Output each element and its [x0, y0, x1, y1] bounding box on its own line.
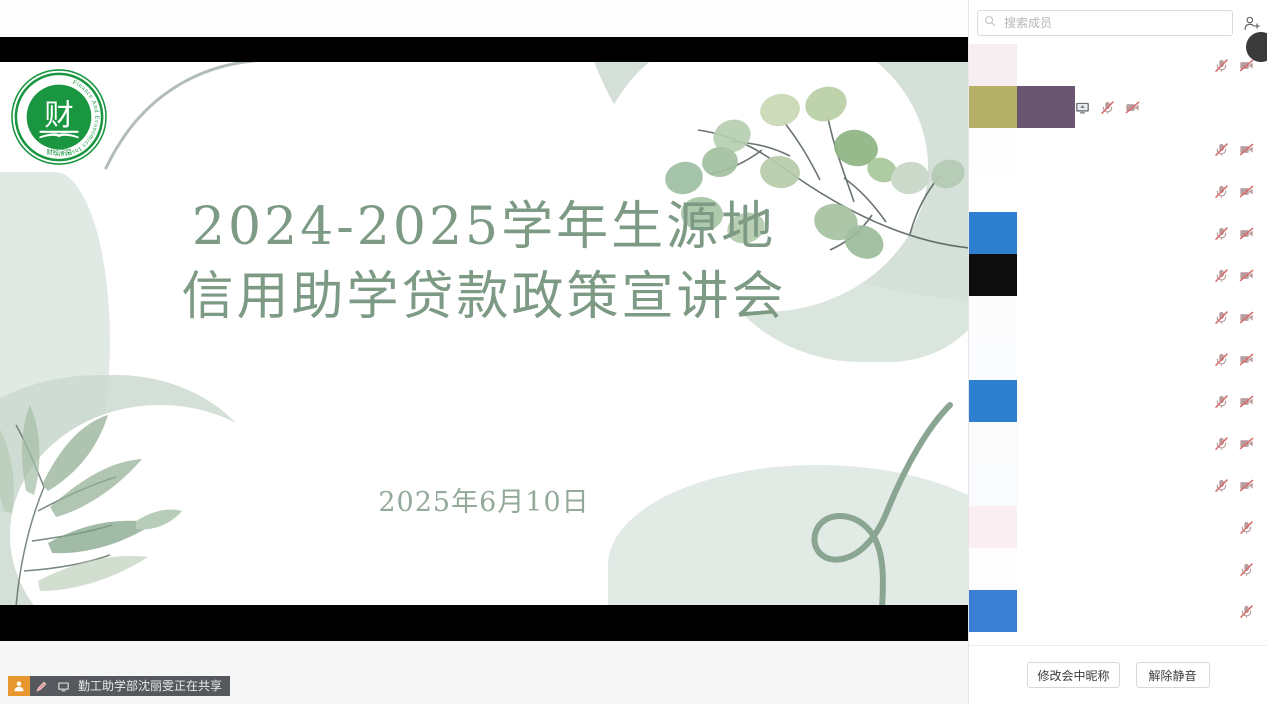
- avatar: [969, 422, 1017, 464]
- member-status-icons: [1214, 478, 1260, 493]
- members-panel-footer: 修改会中昵称 解除静音: [969, 645, 1267, 704]
- mic-muted-icon[interactable]: [1214, 142, 1229, 157]
- member-status-icons: [1239, 562, 1260, 577]
- member-search-row: [969, 0, 1267, 44]
- camera-muted-icon[interactable]: [1125, 100, 1140, 115]
- mic-muted-icon[interactable]: [1214, 268, 1229, 283]
- eucalyptus-branch-decoration: [658, 62, 968, 282]
- members-panel: 修改会中昵称 解除静音: [968, 0, 1267, 704]
- presenter-status-label: 勤工助学部沈丽雯正在共享: [74, 676, 230, 696]
- mic-muted-icon[interactable]: [1214, 226, 1229, 241]
- member-row[interactable]: [969, 506, 1267, 548]
- svg-text:财: 财: [44, 98, 73, 132]
- mic-muted-icon[interactable]: [1214, 394, 1229, 409]
- member-row[interactable]: [969, 128, 1267, 170]
- member-row[interactable]: [969, 338, 1267, 380]
- mic-muted-icon[interactable]: [1214, 352, 1229, 367]
- member-status-icons: [1214, 184, 1260, 199]
- avatar: [969, 44, 1017, 86]
- avatar: [969, 170, 1017, 212]
- member-row[interactable]: [969, 632, 1267, 645]
- finance-and-economics-institute-logo: Finance And Economics Institute 财 财经学院: [10, 68, 108, 166]
- member-row[interactable]: [969, 44, 1267, 86]
- annotate-icon[interactable]: [30, 676, 52, 696]
- viewer-top-gap: [0, 0, 968, 37]
- mic-muted-icon[interactable]: [1214, 310, 1229, 325]
- member-status-icons: [1075, 100, 1146, 115]
- unmute-button[interactable]: 解除静音: [1136, 662, 1210, 688]
- mic-muted-icon[interactable]: [1239, 520, 1254, 535]
- member-status-icons: [1214, 268, 1260, 283]
- mic-muted-icon[interactable]: [1100, 100, 1115, 115]
- member-row[interactable]: [969, 86, 1267, 128]
- member-row[interactable]: [969, 212, 1267, 254]
- member-row[interactable]: [969, 296, 1267, 338]
- screen-share-icon[interactable]: [52, 676, 74, 696]
- avatar: [969, 128, 1017, 170]
- avatar: [969, 590, 1017, 632]
- member-status-icons: [1214, 436, 1260, 451]
- camera-muted-icon[interactable]: [1239, 142, 1254, 157]
- slide-date: 2025年6月10日: [0, 480, 968, 519]
- letterbox-top: [0, 37, 968, 62]
- camera-muted-icon[interactable]: [1239, 184, 1254, 199]
- avatar: [969, 632, 1017, 645]
- member-status-icons: [1239, 520, 1260, 535]
- member-status-icons: [1239, 604, 1260, 619]
- camera-muted-icon[interactable]: [1239, 268, 1254, 283]
- presenter-user-icon[interactable]: [8, 676, 30, 696]
- svg-text:财经学院: 财经学院: [46, 147, 72, 156]
- mic-muted-icon[interactable]: [1214, 58, 1229, 73]
- member-row[interactable]: [969, 380, 1267, 422]
- avatar: [969, 548, 1017, 590]
- mic-muted-icon[interactable]: [1214, 436, 1229, 451]
- member-status-icons: [1214, 310, 1260, 325]
- mic-muted-icon[interactable]: [1214, 478, 1229, 493]
- member-status-icons: [1214, 394, 1260, 409]
- meeting-window: Finance And Economics Institute 财 财经学院 2…: [0, 0, 1267, 704]
- search-input[interactable]: [1002, 15, 1226, 31]
- member-row[interactable]: [969, 464, 1267, 506]
- presenter-status-bar[interactable]: 勤工助学部沈丽雯正在共享: [8, 676, 230, 696]
- rename-button[interactable]: 修改会中昵称: [1027, 662, 1119, 688]
- camera-muted-icon[interactable]: [1239, 58, 1254, 73]
- camera-muted-icon[interactable]: [1239, 394, 1254, 409]
- shared-screen-viewer[interactable]: Finance And Economics Institute 财 财经学院 2…: [0, 0, 968, 704]
- member-name: [1017, 86, 1075, 128]
- avatar: [969, 86, 1017, 128]
- member-status-icons: [1214, 226, 1260, 241]
- member-row[interactable]: [969, 422, 1267, 464]
- letterbox-bottom: [0, 605, 968, 641]
- avatar: [969, 506, 1017, 548]
- mic-muted-icon[interactable]: [1239, 562, 1254, 577]
- avatar: [969, 338, 1017, 380]
- camera-muted-icon[interactable]: [1239, 310, 1254, 325]
- camera-muted-icon[interactable]: [1239, 226, 1254, 241]
- avatar: [969, 380, 1017, 422]
- avatar: [969, 464, 1017, 506]
- member-row[interactable]: [969, 254, 1267, 296]
- mic-muted-icon[interactable]: [1214, 184, 1229, 199]
- member-list[interactable]: [969, 44, 1267, 645]
- avatar: [969, 296, 1017, 338]
- camera-muted-icon[interactable]: [1239, 436, 1254, 451]
- avatar: [969, 254, 1017, 296]
- member-status-icons: [1214, 142, 1260, 157]
- camera-muted-icon[interactable]: [1239, 352, 1254, 367]
- screen-share-icon: [1075, 100, 1090, 115]
- search-box[interactable]: [977, 10, 1233, 36]
- member-status-icons: [1214, 352, 1260, 367]
- mic-muted-icon[interactable]: [1239, 604, 1254, 619]
- presentation-slide: Finance And Economics Institute 财 财经学院 2…: [0, 62, 968, 605]
- member-row[interactable]: [969, 170, 1267, 212]
- decorative-arc: [100, 62, 360, 176]
- avatar: [969, 212, 1017, 254]
- member-row[interactable]: [969, 590, 1267, 632]
- add-person-icon[interactable]: [1240, 12, 1262, 34]
- search-icon: [984, 14, 996, 32]
- member-row[interactable]: [969, 548, 1267, 590]
- camera-muted-icon[interactable]: [1239, 478, 1254, 493]
